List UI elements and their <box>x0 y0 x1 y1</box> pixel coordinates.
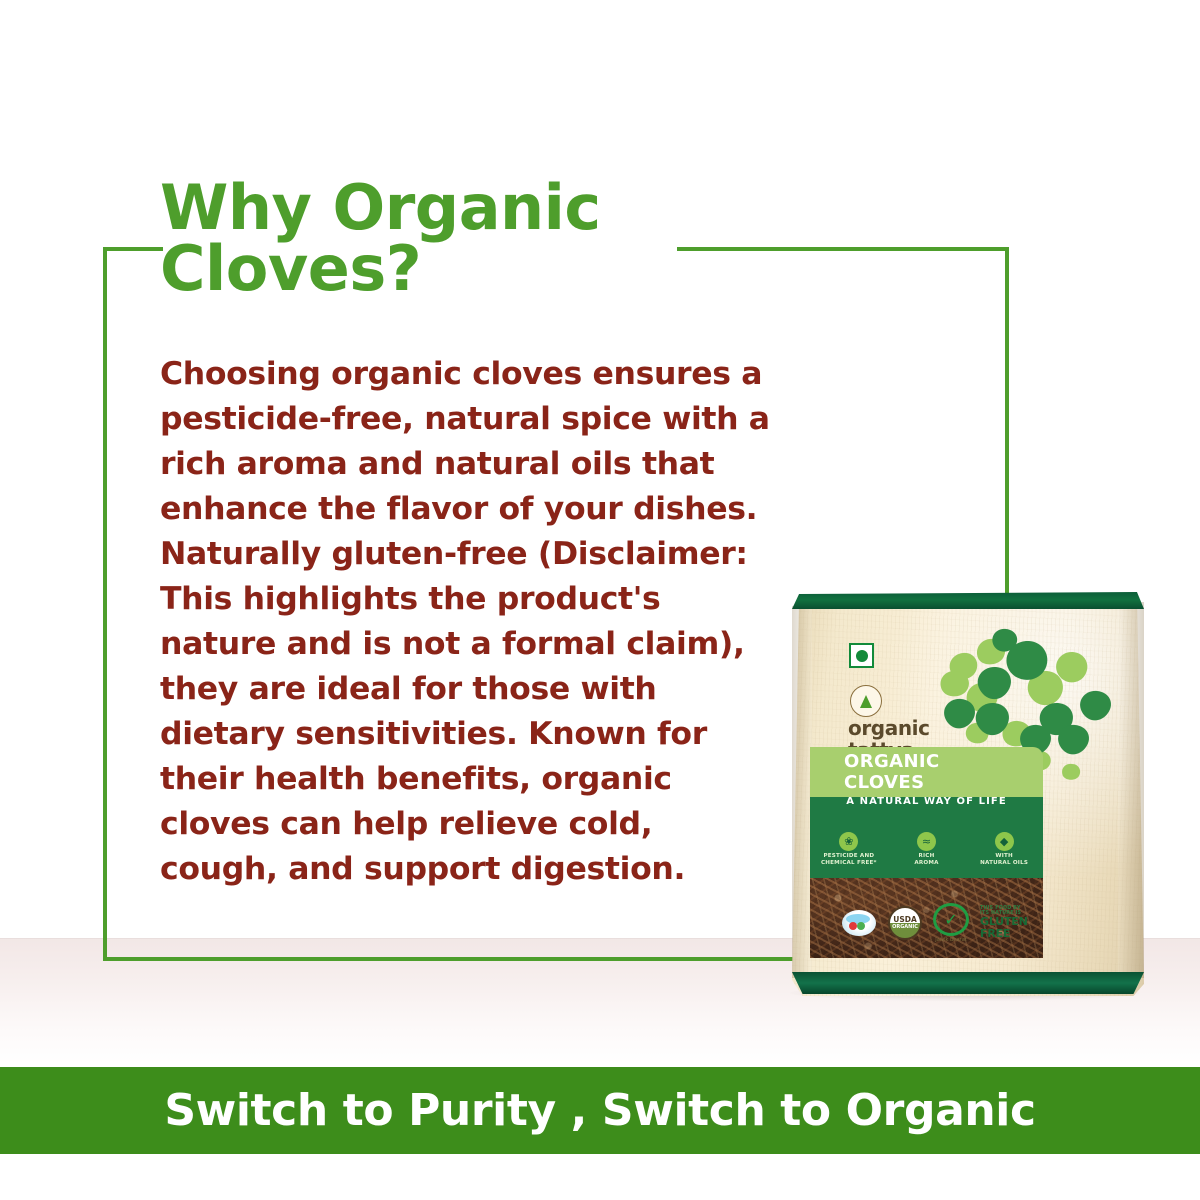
certification-row: USDA ORGANIC ✓ Jaivik Bharat THIS FOOD B… <box>842 900 1082 946</box>
feature-pesticide-free: ❀ PESTICIDE AND CHEMICAL FREE* <box>814 832 884 868</box>
bottom-banner: Switch to Purity , Switch to Organic <box>0 1067 1200 1154</box>
usda-organic-badge-icon: USDA ORGANIC <box>888 906 922 940</box>
usda-line2: ORGANIC <box>892 925 918 930</box>
usda-line1: USDA <box>893 916 917 924</box>
frame-top-right-segment <box>677 247 1009 251</box>
feature-label: PESTICIDE AND CHEMICAL FREE* <box>814 853 884 868</box>
veg-dot <box>856 650 868 662</box>
gluten-free-badge: THIS FOOD BY ITS NATURE IS GLUTEN FREE <box>980 906 1028 939</box>
red-dot <box>849 922 857 930</box>
aroma-waves-icon: ≈ <box>917 832 936 851</box>
feature-label: WITH NATURAL OILS <box>969 853 1039 868</box>
body-copy: Choosing organic cloves ensures a pestic… <box>160 352 780 892</box>
feature-band: ❀ PESTICIDE AND CHEMICAL FREE* ≈ RICH AR… <box>810 831 1043 878</box>
package-bottom-seal <box>792 972 1144 994</box>
oil-drop-icon: ◆ <box>995 832 1014 851</box>
jaivik-bharat-badge-icon: ✓ Jaivik Bharat <box>934 903 968 943</box>
frame-top-left-segment <box>103 247 163 251</box>
product-tagline: A NATURAL WAY OF LIFE <box>810 796 1043 807</box>
check-icon: ✓ <box>933 903 969 936</box>
promo-page: Why Organic Cloves? Choosing organic clo… <box>0 0 1200 1200</box>
product-name: ORGANIC CLOVES <box>844 751 1044 793</box>
leaf-shield-icon: ❀ <box>839 832 858 851</box>
banner-text: Switch to Purity , Switch to Organic <box>164 1085 1035 1136</box>
package-top-seal <box>792 592 1144 609</box>
product-package: organic tattva <box>782 592 1150 996</box>
brand-seal-icon <box>850 685 882 717</box>
feature-rich-aroma: ≈ RICH AROMA <box>891 832 961 868</box>
feature-label: RICH AROMA <box>891 853 961 868</box>
page-title: Why Organic Cloves? <box>160 178 680 300</box>
tree-icon <box>860 695 872 708</box>
veg-mark-icon <box>849 643 874 668</box>
green-dot <box>857 922 865 930</box>
india-organic-badge-icon <box>842 910 876 936</box>
jaivik-label: Jaivik Bharat <box>935 937 967 943</box>
frame-left-edge <box>103 247 107 961</box>
gluten-free-big-text: GLUTEN FREE <box>980 916 1028 939</box>
feature-natural-oils: ◆ WITH NATURAL OILS <box>969 832 1039 868</box>
